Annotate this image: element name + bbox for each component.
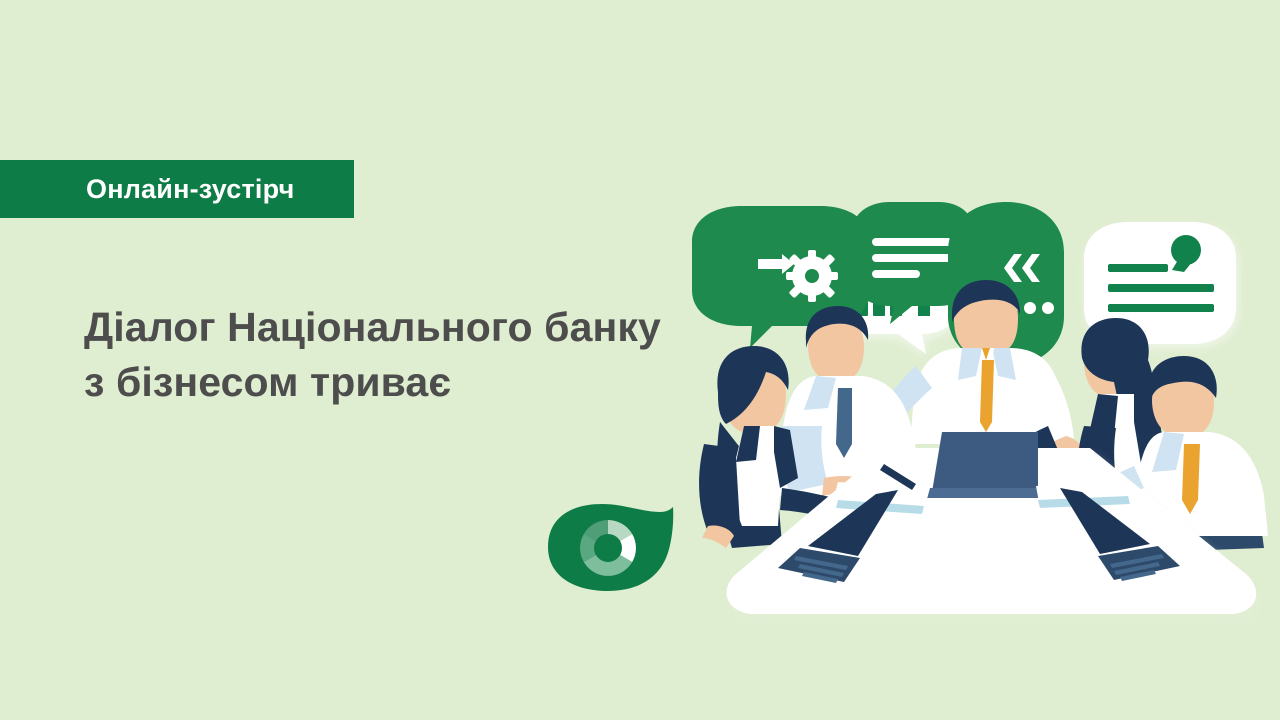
leaf-shape bbox=[548, 504, 673, 591]
status-badge: Онлайн-зустірч bbox=[0, 160, 354, 218]
page-title-line-2: з бізнесом триває bbox=[84, 355, 724, 410]
laptop-center bbox=[924, 432, 1046, 498]
page-title-line-1: Діалог Національного банку bbox=[84, 300, 724, 355]
status-badge-label: Онлайн-зустірч bbox=[86, 174, 295, 205]
page-title: Діалог Національного банку з бізнесом тр… bbox=[84, 300, 724, 409]
nbu-leaf-logo bbox=[540, 492, 676, 596]
online-business-meeting-illustration bbox=[686, 196, 1280, 644]
poster-canvas: Онлайн-зустірч Діалог Національного банк… bbox=[0, 0, 1280, 720]
